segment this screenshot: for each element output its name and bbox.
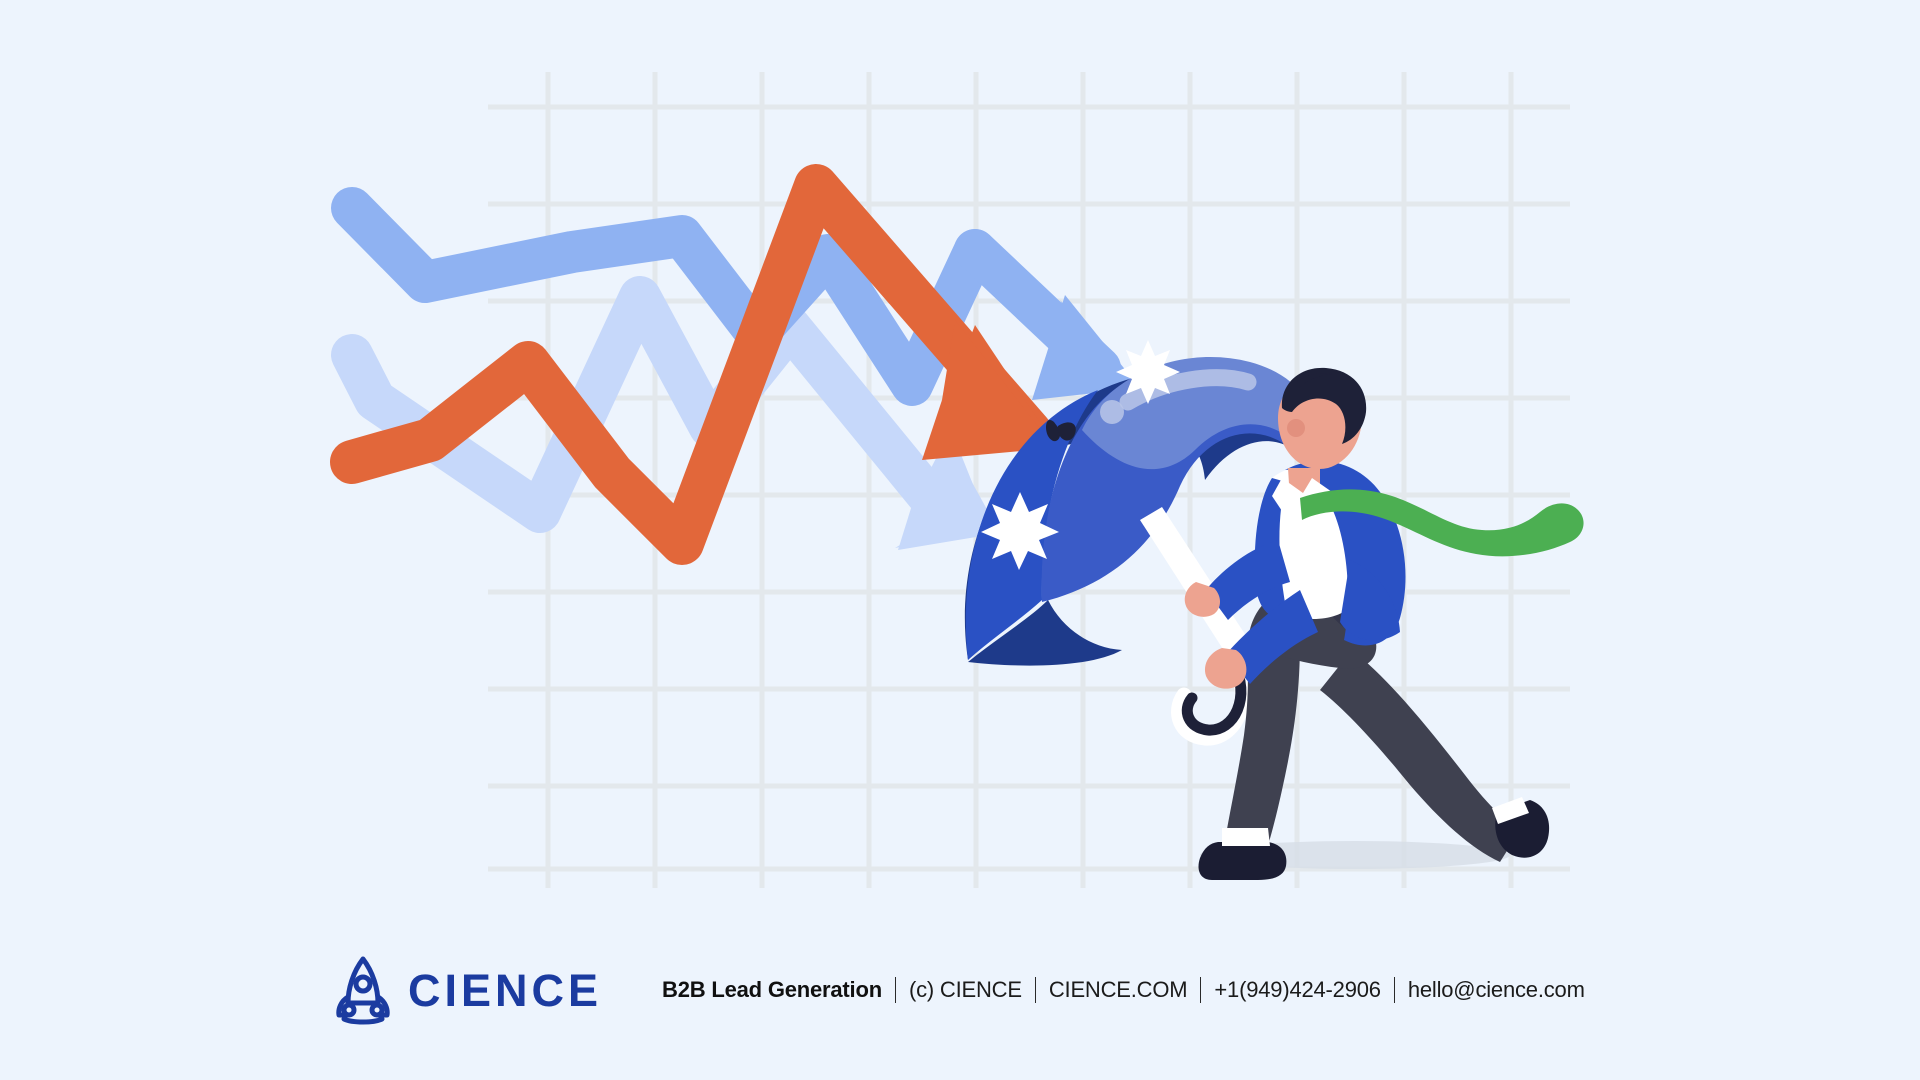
footer-divider [895,977,896,1003]
footer-bar: CIENCE B2B Lead Generation (c) CIENCE CI… [0,900,1920,1080]
footer-website-link[interactable]: CIENCE.COM [1049,977,1188,1003]
footer-phone-number[interactable]: +1(949)424-2906 [1214,977,1380,1003]
footer-tagline: B2B Lead Generation [662,977,882,1003]
footer-email-address[interactable]: hello@cience.com [1408,977,1585,1003]
footer-divider [1200,977,1201,1003]
footer-contact-info: B2B Lead Generation (c) CIENCE CIENCE.CO… [662,977,1585,1003]
footer-copyright: (c) CIENCE [909,977,1022,1003]
rocket-icon [332,953,394,1027]
cience-wordmark: CIENCE [408,968,602,1013]
cience-logo[interactable]: CIENCE [332,953,602,1027]
footer-divider [1035,977,1036,1003]
poster-canvas: CIENCE B2B Lead Generation (c) CIENCE CI… [0,0,1920,1080]
footer-divider [1394,977,1395,1003]
